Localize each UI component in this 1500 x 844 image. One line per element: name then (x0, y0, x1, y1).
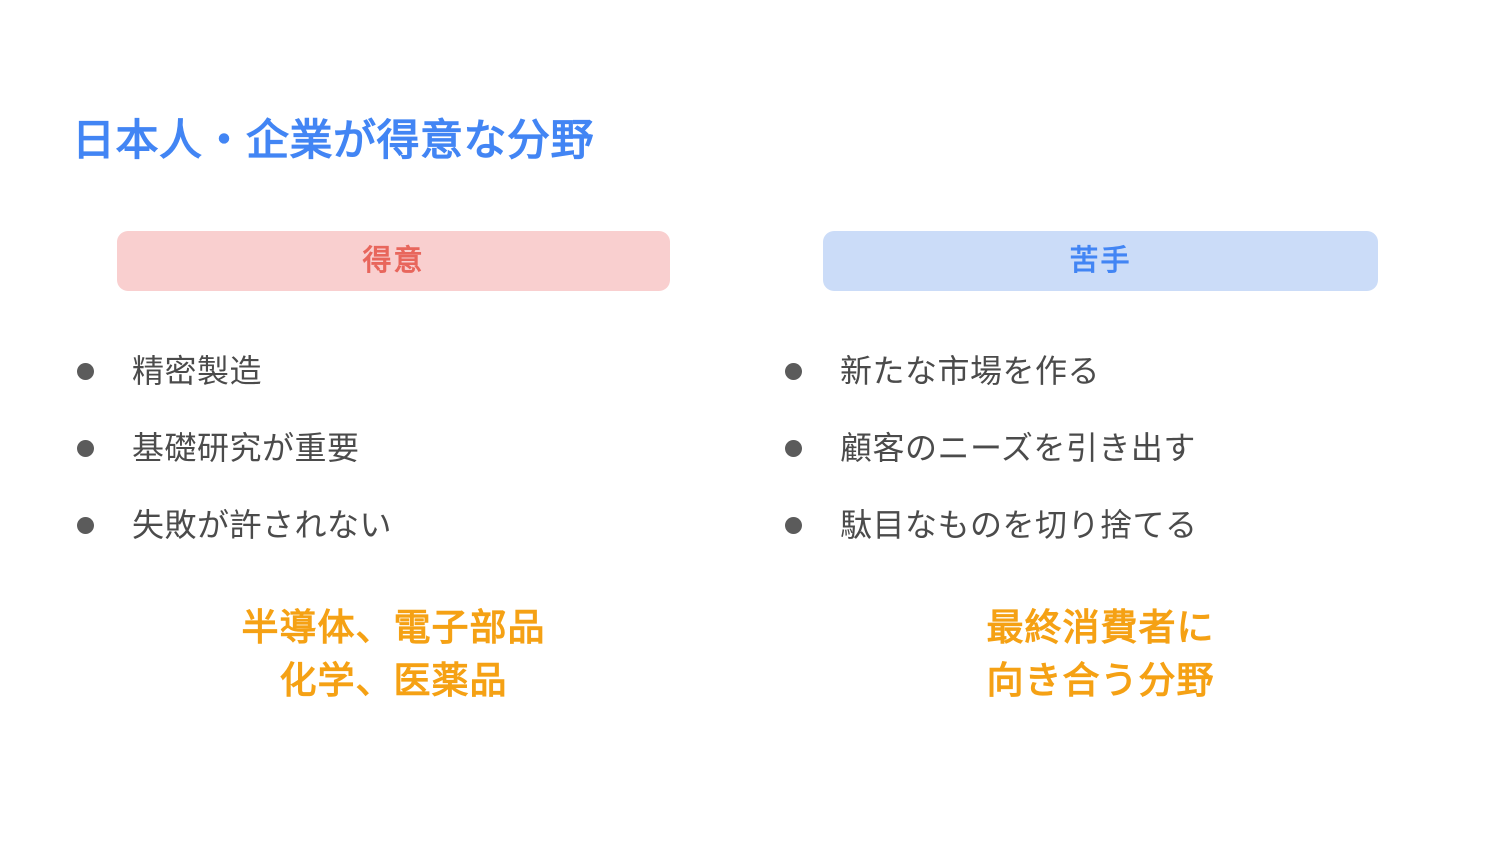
slide-canvas: 日本人・企業が得意な分野 得意 精密製造 基礎研究が重要 失敗が許されない (0, 0, 1500, 844)
badge-weaknesses: 苦手 (823, 231, 1378, 291)
list-item: 新たな市場を作る (785, 349, 1405, 426)
list-item: 駄目なものを切り捨てる (785, 503, 1405, 580)
bullet-dot-icon (77, 440, 94, 457)
list-item-label: 顧客のニーズを引き出す (840, 426, 1196, 470)
weaknesses-conclusion-line-2: 向き合う分野 (823, 655, 1378, 708)
column-strengths: 得意 精密製造 基礎研究が重要 失敗が許されない 半導体、電子部品 化学、 (117, 231, 670, 291)
comparison-columns: 得意 精密製造 基礎研究が重要 失敗が許されない 半導体、電子部品 化学、 (0, 231, 1500, 771)
list-item: 顧客のニーズを引き出す (785, 426, 1405, 503)
bullet-dot-icon (785, 440, 802, 457)
bullet-dot-icon (77, 517, 94, 534)
strengths-conclusion-line-2: 化学、医薬品 (117, 655, 670, 708)
page-title: 日本人・企業が得意な分野 (72, 115, 594, 169)
badge-strengths-label: 得意 (362, 247, 424, 276)
bullet-dot-icon (77, 363, 94, 380)
list-item: 失敗が許されない (77, 503, 697, 580)
list-item-label: 失敗が許されない (132, 503, 392, 547)
weaknesses-list: 新たな市場を作る 顧客のニーズを引き出す 駄目なものを切り捨てる (785, 349, 1405, 580)
list-item-label: 精密製造 (132, 349, 262, 393)
strengths-conclusion-line-1: 半導体、電子部品 (117, 602, 670, 655)
strengths-list: 精密製造 基礎研究が重要 失敗が許されない (77, 349, 697, 580)
list-item-label: 基礎研究が重要 (132, 426, 360, 470)
bullet-dot-icon (785, 363, 802, 380)
list-item: 精密製造 (77, 349, 697, 426)
weaknesses-conclusion-line-1: 最終消費者に (823, 602, 1378, 655)
list-item-label: 駄目なものを切り捨てる (840, 503, 1198, 547)
weaknesses-conclusion: 最終消費者に 向き合う分野 (823, 602, 1378, 707)
badge-strengths: 得意 (117, 231, 670, 291)
list-item: 基礎研究が重要 (77, 426, 697, 503)
column-weaknesses: 苦手 新たな市場を作る 顧客のニーズを引き出す 駄目なものを切り捨てる 最終消費… (823, 231, 1378, 291)
strengths-conclusion: 半導体、電子部品 化学、医薬品 (117, 602, 670, 707)
bullet-dot-icon (785, 517, 802, 534)
badge-weaknesses-label: 苦手 (1069, 247, 1131, 276)
list-item-label: 新たな市場を作る (840, 349, 1100, 393)
